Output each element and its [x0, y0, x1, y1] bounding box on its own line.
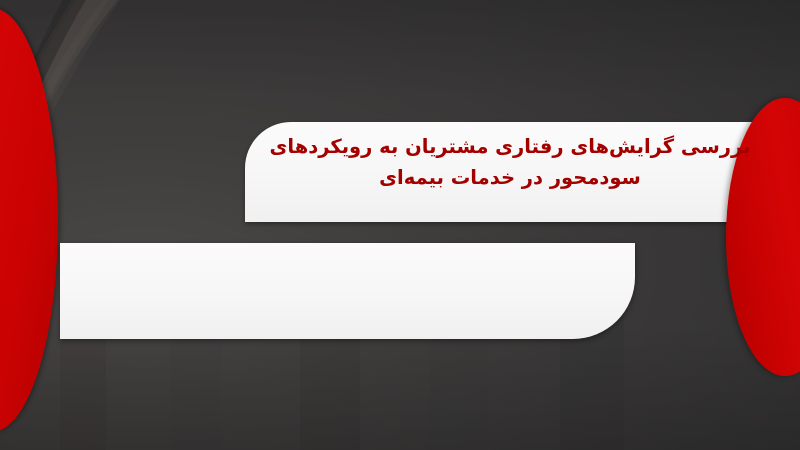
- slide-title: بررسی گرایش‌های رفتاری مشتریان به رویکرد…: [265, 132, 755, 194]
- slide-subtitle: [80, 258, 615, 268]
- background-swirl-pattern: [0, 0, 800, 450]
- title-slide: بررسی گرایش‌های رفتاری مشتریان به رویکرد…: [0, 0, 800, 450]
- slide-title-line-2: سودمحور در خدمات بیمه‌ای: [265, 163, 755, 194]
- slide-title-line-1: بررسی گرایش‌های رفتاری مشتریان به رویکرد…: [265, 132, 755, 163]
